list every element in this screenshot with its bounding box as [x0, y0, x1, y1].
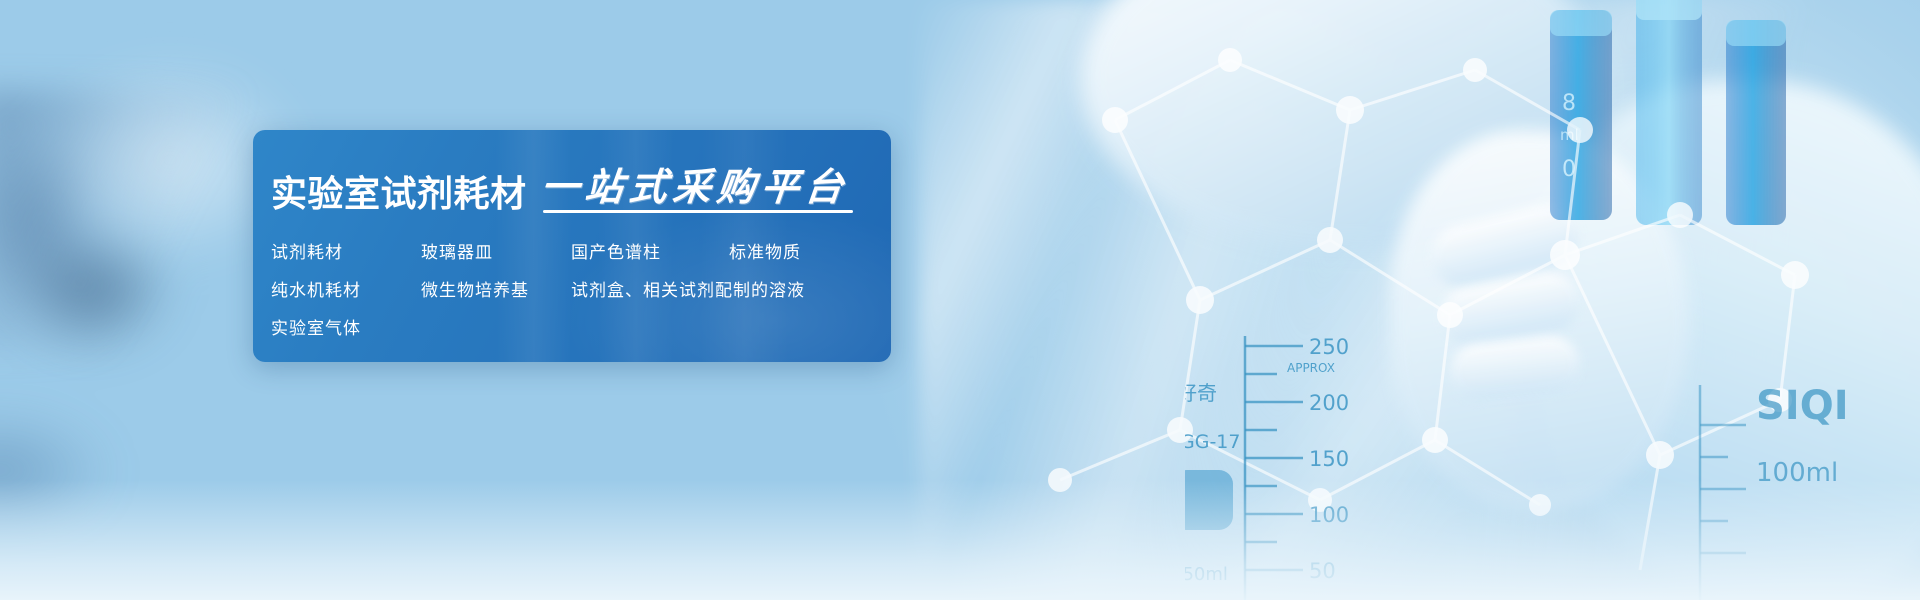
category-item-lab-gas[interactable]: 实验室气体 — [271, 321, 421, 338]
category-item-kits-and-solutions[interactable]: 试剂盒、相关试剂配制的溶液 — [571, 283, 729, 300]
beaker-glass-code: GG-17 — [1185, 431, 1240, 453]
svg-text:ml: ml — [1560, 126, 1579, 144]
category-list: 试剂耗材 玻璃器皿 国产色谱柱 标准物质 纯水机耗材 微生物培养基 试剂盒、相关… — [271, 245, 891, 338]
glassware-blur-left — [0, 90, 280, 350]
beaker-grad-200: 200 — [1309, 391, 1349, 415]
headline-underline — [543, 210, 853, 213]
beaker-brand: 好奇 — [1185, 381, 1217, 405]
category-item-reference-material[interactable]: 标准物质 — [729, 245, 801, 262]
beaker-grad-150: 150 — [1309, 447, 1349, 471]
svg-text:0: 0 — [1562, 157, 1576, 182]
category-row: 实验室气体 — [271, 321, 891, 338]
beaker-grad-250: 250 — [1309, 335, 1349, 359]
flask-brand: SIQI — [1756, 385, 1849, 429]
laboratory-promo-banner: 8 ml 0 — [0, 0, 1920, 600]
beaker-approx-label: APPROX — [1287, 361, 1335, 375]
promo-panel: 实验室试剂耗材 一站式采购平台 试剂耗材 玻璃器皿 国产色谱柱 标准物质 纯水机… — [253, 130, 891, 362]
category-item-reagent-consumables[interactable]: 试剂耗材 — [271, 245, 421, 262]
category-row: 试剂耗材 玻璃器皿 国产色谱柱 标准物质 — [271, 245, 891, 262]
headline: 实验室试剂耗材 一站式采购平台 — [271, 168, 891, 213]
test-tube-set: 8 ml 0 — [1540, 0, 1860, 250]
svg-text:8: 8 — [1562, 91, 1576, 116]
category-item-water-purifier-consumables[interactable]: 纯水机耗材 — [271, 283, 421, 300]
bottom-fade — [0, 480, 1920, 600]
headline-part2-wrapper: 一站式采购平台 — [541, 168, 849, 213]
category-item-microbial-media[interactable]: 微生物培养基 — [421, 283, 571, 300]
category-item-domestic-column[interactable]: 国产色谱柱 — [571, 245, 729, 262]
category-row: 纯水机耗材 微生物培养基 试剂盒、相关试剂配制的溶液 — [271, 283, 891, 300]
headline-part1: 实验室试剂耗材 — [271, 177, 527, 213]
headline-part2: 一站式采购平台 — [539, 168, 851, 206]
category-item-glassware[interactable]: 玻璃器皿 — [421, 245, 571, 262]
